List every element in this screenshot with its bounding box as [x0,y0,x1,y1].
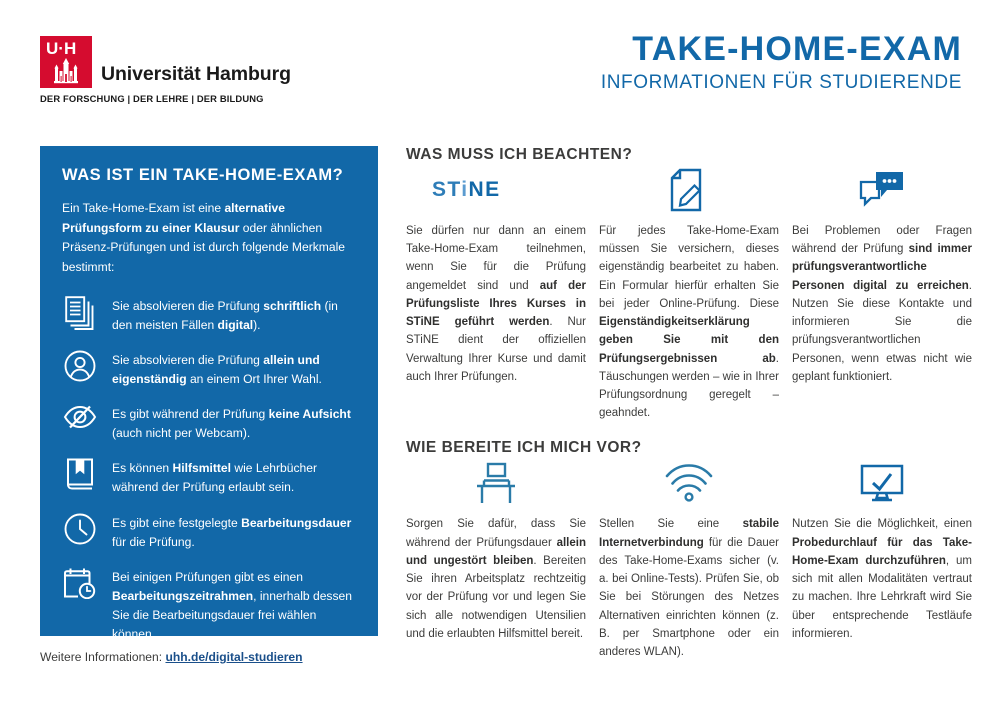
text-part: ). [253,318,260,332]
stine-part-2: i [461,178,468,201]
list-item-text: Es können Hilfsmittel wie Lehrbücher wäh… [112,457,356,497]
text-bold: Bearbeitungszeitrahmen [112,589,253,603]
text-part: an einem Ort Ihrer Wahl. [187,372,322,386]
text-bold: keine Aufsicht [269,407,351,421]
right-content: WAS MUSS ICH BEACHTEN? STiNE Sie dürfen … [406,146,972,661]
definition-panel: WAS IST EIN TAKE-HOME-EXAM? Ein Take-Hom… [40,146,378,636]
page-subtitle: INFORMATIONEN FÜR STUDIERENDE [601,72,962,94]
stine-part-3: NE [469,178,501,201]
column-body: Nutzen Sie die Möglichkeit, einen Probed… [792,515,972,643]
wifi-icon [599,457,779,509]
text-part: . Bereiten Sie ihren Arbeitsplatz rechtz… [406,555,586,640]
footer-label: Weitere Informationen: [40,650,165,664]
uhh-castle-logo-icon: U·H [40,36,92,88]
more-info-link[interactable]: uhh.de/digital-studieren [165,650,302,664]
section-title-vorbereiten: WIE BEREITE ICH MICH VOR? [406,439,972,457]
text-part: Es gibt während der Prüfung [112,407,269,421]
section-2-columns: Sorgen Sie dafür, dass Sie während der P… [406,457,972,661]
list-item-text: Sie absolvieren die Prüfung schriftlich … [112,295,356,335]
university-name: Universität Hamburg [101,63,291,88]
stine-wordmark: STiNE [432,178,501,202]
university-logo: U·H [40,36,300,104]
stine-part-1: ST [432,178,461,201]
logo-uhh-text: U·H [46,39,76,59]
stine-logo-icon: STiNE [406,164,586,216]
list-item: Es gibt eine festgelegte Bearbeitungsdau… [62,512,356,552]
list-item-text: Es gibt während der Prüfung keine Aufsic… [112,403,356,443]
page-title: TAKE-HOME-EXAM [601,32,962,68]
documents-icon [62,295,98,330]
text-part: Sie absolvieren die Prüfung [112,299,263,313]
column-selbststaendigkeitserklaerung: Für jedes Take-Home-Exam müssen Sie vers… [599,164,779,422]
text-part: Es gibt eine festgelegte [112,516,241,530]
text-part: (auch nicht per Webcam). [112,426,250,440]
calendar-clock-icon [62,566,98,599]
text-part: Stellen Sie eine [599,518,743,530]
desk-laptop-icon [406,457,586,509]
section-2-wrapper: WIE BEREITE ICH MICH VOR? Sorgen Sie [406,439,972,661]
castle-glyph-icon [53,58,79,84]
header-titles: TAKE-HOME-EXAM INFORMATIONEN FÜR STUDIER… [601,32,962,94]
text-part: für die Prüfung. [112,535,195,549]
clock-icon [62,512,98,545]
monitor-check-icon [792,457,972,509]
speech-bubbles-icon [792,164,972,216]
footer-note: Weitere Informationen: uhh.de/digital-st… [40,650,303,664]
panel-intro-part1: Ein Take-Home-Exam ist eine [62,201,224,215]
list-item: Es können Hilfsmittel wie Lehrbücher wäh… [62,457,356,497]
list-item: Es gibt während der Prüfung keine Aufsic… [62,403,356,443]
text-bold: Hilfsmittel [173,461,231,475]
list-item: Sie absolvieren die Prüfung allein und e… [62,349,356,389]
column-body: Sie dürfen nur dann an einem Take-Home-E… [406,222,586,386]
column-arbeitsplatz: Sorgen Sie dafür, dass Sie während der P… [406,457,586,661]
column-body: Bei Problemen oder Fragen während der Pr… [792,222,972,386]
text-bold: digital [218,318,254,332]
panel-title: WAS IST EIN TAKE-HOME-EXAM? [62,166,356,185]
column-body: Sorgen Sie dafür, dass Sie während der P… [406,515,586,643]
panel-intro: Ein Take-Home-Exam ist eine alternative … [62,199,356,278]
column-internet: Stellen Sie eine stabile Internetverbind… [599,457,779,661]
column-body: Für jedes Take-Home-Exam müssen Sie vers… [599,222,779,422]
text-part: Sie absolvieren die Prüfung [112,353,263,367]
text-part: Nutzen Sie die Möglichkeit, einen [792,518,972,530]
text-part: . Nutzen Sie diese Kontakte und informie… [792,280,972,383]
book-bookmark-icon [62,457,98,490]
text-part: Es können [112,461,173,475]
column-probedurchlauf: Nutzen Sie die Möglichkeit, einen Probed… [792,457,972,661]
text-part: Für jedes Take-Home-Exam müssen Sie vers… [599,225,779,310]
section-title-beachten: WAS MUSS ICH BEACHTEN? [406,146,972,164]
section-1-columns: STiNE Sie dürfen nur dann an einem Take-… [406,164,972,422]
list-item: Bei einigen Prüfungen gibt es einen Bear… [62,566,356,644]
document-pencil-icon [599,164,779,216]
list-item-text: Bei einigen Prüfungen gibt es einen Bear… [112,566,356,644]
column-body: Stellen Sie eine stabile Internetverbind… [599,515,779,661]
person-circle-icon [62,349,98,382]
text-part: , um sich mit allen Modalitäten vertraut… [792,555,972,640]
text-bold: Eigenständigkeitserklärung geben Sie mit… [599,316,779,364]
list-item-text: Sie absolvieren die Prüfung allein und e… [112,349,356,389]
page-header: U·H [0,0,1000,120]
feature-list: Sie absolvieren die Prüfung schriftlich … [62,295,356,644]
list-item: Sie absolvieren die Prüfung schriftlich … [62,295,356,335]
university-tagline: DER FORSCHUNG | DER LEHRE | DER BILDUNG [40,93,300,104]
column-kontakt: Bei Problemen oder Fragen während der Pr… [792,164,972,422]
text-bold: schriftlich [263,299,321,313]
text-part: Bei einigen Prüfungen gibt es einen [112,570,303,584]
eye-crossed-icon [62,403,98,430]
text-part: für die Dauer des Take-Home-Exams sicher… [599,537,779,658]
list-item-text: Es gibt eine festgelegte Bearbeitungsdau… [112,512,356,552]
infographic-page: U·H [0,0,1000,707]
column-stine: STiNE Sie dürfen nur dann an einem Take-… [406,164,586,422]
text-bold: Bearbeitungsdauer [241,516,351,530]
